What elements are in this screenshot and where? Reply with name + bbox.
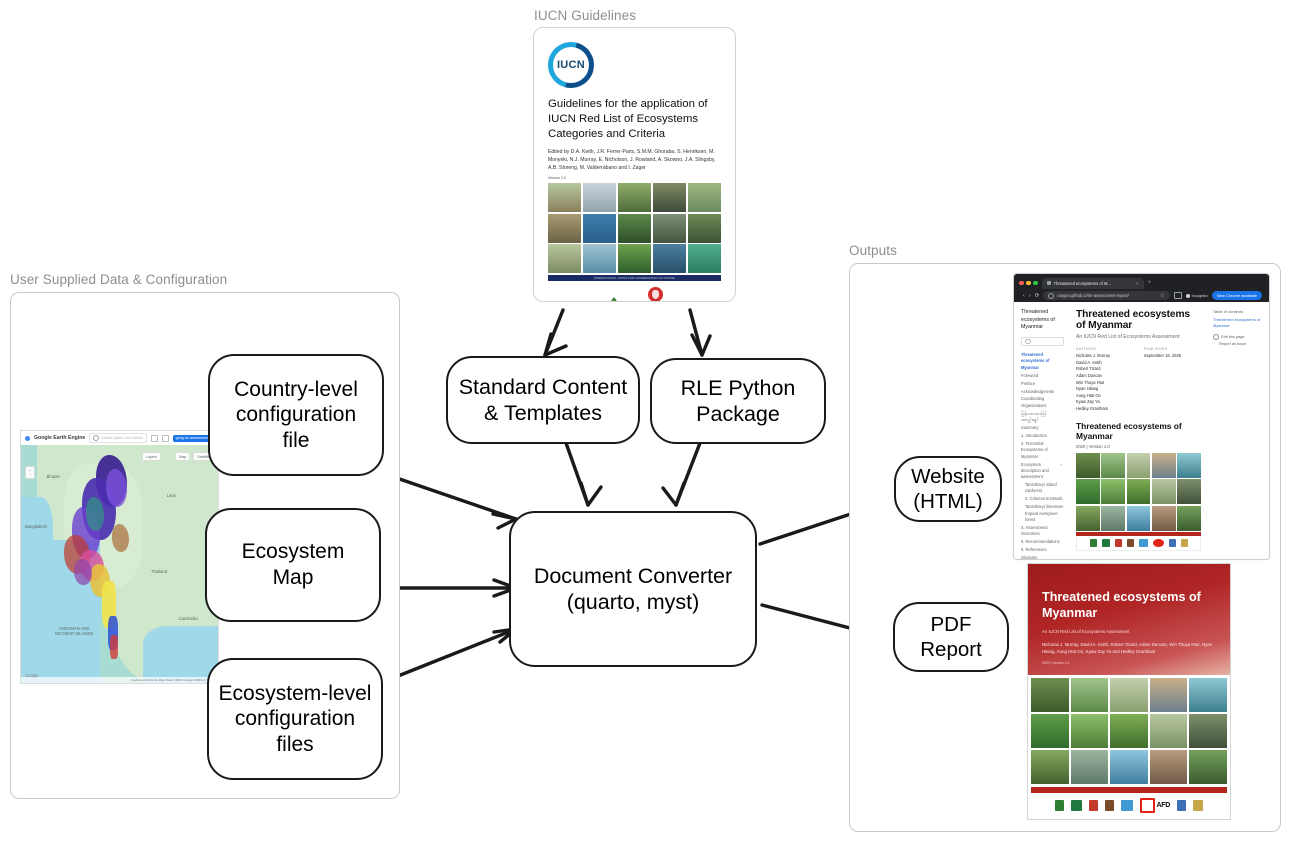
- browser-chrome: Threatened ecosystems of M... × + ‹ › ⟳ …: [1014, 274, 1269, 302]
- edit-icon: [1213, 334, 1219, 340]
- toc-item[interactable]: Glossary: [1021, 555, 1064, 560]
- toc-item[interactable]: 2. Criterion B Details: [1021, 496, 1064, 502]
- report-photo-grid: [1076, 453, 1201, 531]
- node-line: Country-level: [234, 378, 358, 401]
- node-country-level-configuration-file[interactable]: Country-level configuration file: [208, 354, 384, 476]
- author-name: Nyan Hlaing: [1076, 386, 1110, 393]
- map-label: Thailand: [151, 569, 167, 574]
- cem-logo-icon: CEM: [601, 297, 627, 302]
- right-toc-link[interactable]: Threatened ecosystems of Myanmar: [1213, 317, 1264, 329]
- page-section-title: Threatened ecosystems of Myanmar: [1076, 421, 1201, 441]
- tab-favicon-icon: [1047, 281, 1051, 285]
- node-line: PDF: [931, 613, 972, 636]
- toc-item[interactable]: 1. Introduction: [1021, 433, 1064, 439]
- gee-search-placeholder: Search places and datasets...: [101, 436, 142, 440]
- node-line: (quarto, myst): [567, 590, 700, 614]
- edit-this-page-link[interactable]: Edit this page: [1213, 334, 1264, 341]
- pdf-photo-grid: [1028, 675, 1230, 784]
- toc-item[interactable]: Coordinating Organizations: [1021, 396, 1064, 409]
- chrome-update-button[interactable]: New Chrome available: [1212, 291, 1262, 300]
- node-line: Website: [911, 465, 985, 488]
- toc-item[interactable]: Preface: [1021, 381, 1064, 387]
- map-label: ANDAMAN AND NICOBAR ISLANDS: [53, 626, 96, 636]
- toc-item[interactable]: 2. Terrestrial Ecosystems of Myanmar: [1021, 441, 1064, 460]
- url-text: ourgeo.github.io/rle-assessment-report/: [1057, 293, 1128, 298]
- google-earth-engine-thumbnail: Google Earth Engine Search places and da…: [20, 430, 219, 684]
- page-version-line: 2020 | Version 1.0: [1076, 444, 1201, 449]
- tab-title: Threatened ecosystems of M...: [1054, 281, 1112, 286]
- map-label: Bangladesh: [25, 524, 47, 529]
- map-label: Bhutan: [47, 474, 60, 479]
- close-icon[interactable]: ×: [1136, 281, 1139, 286]
- iucn-cover-photo-grid: [548, 183, 721, 273]
- map-label: Cambodia: [179, 616, 198, 621]
- node-standard-content-templates[interactable]: Standard Content & Templates: [446, 356, 640, 444]
- map-attribution: Keyboard shortcuts Map Data ©2024 Google…: [21, 677, 218, 683]
- iucn-doc-title: Guidelines for the application of IUCN R…: [548, 97, 721, 142]
- page-next-link[interactable]: Foreword →: [1076, 551, 1201, 560]
- group-label-guidelines: IUCN Guidelines: [534, 8, 636, 23]
- toc-item[interactable]: 3. Assessment Outcomes: [1021, 525, 1064, 538]
- gee-logo-icon: [25, 436, 30, 441]
- map-layers-button[interactable]: Layers: [142, 452, 161, 461]
- reload-icon[interactable]: ⟳: [1035, 293, 1040, 299]
- toc-item[interactable]: 5. Recommendations: [1021, 539, 1064, 545]
- node-line: Map: [273, 566, 314, 589]
- node-line: RLE Python: [681, 376, 796, 400]
- website-page: Threatened ecosystems of Myanmar Threate…: [1014, 302, 1269, 538]
- website-screenshot-thumbnail: Threatened ecosystems of M... × + ‹ › ⟳ …: [1013, 273, 1270, 560]
- bookmark-star-icon[interactable]: ☆: [1160, 293, 1164, 299]
- incognito-indicator: Incognito: [1186, 293, 1208, 298]
- gee-toolbar: Google Earth Engine Search places and da…: [21, 431, 218, 446]
- address-bar[interactable]: ourgeo.github.io/rle-assessment-report/ …: [1043, 291, 1169, 300]
- afd-logo-icon: AFD: [1140, 798, 1170, 813]
- node-rle-python-package[interactable]: RLE Python Package: [650, 358, 826, 444]
- gee-apps-icon[interactable]: [162, 435, 169, 442]
- search-icon: [1025, 339, 1031, 345]
- red-list-logo-icon: IUCN RED LIST OF ECOSYSTEMS: [643, 287, 669, 302]
- node-line: Report: [920, 638, 982, 661]
- window-controls[interactable]: [1019, 281, 1038, 286]
- new-tab-button[interactable]: +: [1148, 280, 1152, 286]
- node-line: configuration: [235, 707, 355, 730]
- iucn-doc-authors: Edited by D.A. Keith, J.R. Ferrer-Paris,…: [548, 149, 721, 173]
- node-line: configuration: [236, 403, 356, 426]
- toc-item[interactable]: Ecosystem description and assessment: [1021, 462, 1064, 481]
- map-label: Laos: [167, 493, 176, 498]
- search-icon: [1048, 293, 1054, 299]
- node-line: files: [276, 733, 313, 756]
- author-name: Kyaw Zay Ya: [1076, 399, 1110, 406]
- toc-item[interactable]: Threatened ecosystems of Myanmar: [1021, 352, 1064, 371]
- arrow-rle-to-converter: [676, 443, 700, 505]
- gee-help-icon[interactable]: [151, 435, 158, 442]
- google-watermark: Google: [25, 673, 39, 678]
- arrow-country-to-converter: [385, 474, 516, 519]
- node-line: & Templates: [484, 401, 602, 425]
- toc-item[interactable]: Tanintharyi island rainforest: [1021, 482, 1064, 495]
- incognito-icon: [1186, 294, 1190, 298]
- browser-nav-buttons[interactable]: ‹ › ⟳: [1021, 293, 1039, 299]
- arrow-standard-to-converter: [566, 443, 588, 505]
- author-name: Nicholas J. Murray: [1076, 353, 1110, 360]
- toc-item[interactable]: Summary: [1021, 425, 1064, 431]
- node-ecosystem-level-configuration-files[interactable]: Ecosystem-level configuration files: [207, 658, 383, 780]
- author-name: Adam Duncan: [1076, 373, 1110, 380]
- map-type-button[interactable]: Map: [175, 452, 190, 461]
- node-website-html[interactable]: Website (HTML): [894, 456, 1002, 522]
- node-line: Standard Content: [459, 375, 628, 399]
- iucn-doc-version: Version 2.0: [548, 176, 721, 180]
- pdf-report-thumbnail: Threatened ecosystems of Myanmar An IUCN…: [1027, 563, 1231, 820]
- forward-icon[interactable]: ›: [1029, 293, 1031, 299]
- sidebar-site-title: Threatened ecosystems of Myanmar: [1021, 309, 1064, 332]
- authors-block: AUTHORS Nicholas J. Murray David A. Keit…: [1076, 347, 1110, 413]
- published-date: September 18, 2025: [1144, 353, 1181, 360]
- page-title: Threatened ecosystems of Myanmar: [1076, 309, 1201, 331]
- right-table-of-contents: Table of contents Threatened ecosystems …: [1209, 302, 1269, 538]
- node-line: file: [283, 429, 310, 452]
- site-sidebar: Threatened ecosystems of Myanmar Threate…: [1014, 302, 1068, 538]
- author-name: David A. Keith: [1076, 360, 1110, 367]
- authors-heading: AUTHORS: [1076, 347, 1110, 351]
- browser-tab[interactable]: Threatened ecosystems of M... ×: [1042, 278, 1144, 289]
- pdf-authors: Nicholas J. Murray, David A. Keith, Robe…: [1042, 641, 1216, 655]
- author-name: Aung Htat Oo: [1076, 393, 1110, 400]
- gee-map-canvas[interactable]: Bhutan Bangladesh Laos Thailand Cambodia…: [21, 445, 218, 683]
- page-metadata: AUTHORS Nicholas J. Murray David A. Keit…: [1076, 347, 1201, 413]
- node-line: Ecosystem: [242, 540, 345, 563]
- pdf-subtitle: An IUCN Red List of Ecosystems Assessmen…: [1042, 629, 1216, 634]
- report-issue-link[interactable]: Report an issue: [1213, 341, 1264, 348]
- gee-brand-label: Google Earth Engine: [34, 435, 85, 441]
- pdf-partner-logos: AFD: [1028, 793, 1230, 819]
- iucn-footer-logos: CEM IUCN RED LIST OF ECOSYSTEMS: [548, 281, 721, 302]
- author-name: Robert Tizard: [1076, 366, 1110, 373]
- site-search-input[interactable]: [1021, 337, 1064, 346]
- report-partner-logos: [1076, 536, 1201, 551]
- search-icon: [93, 435, 99, 441]
- node-ecosystem-map[interactable]: Ecosystem Map: [205, 508, 381, 622]
- back-icon[interactable]: ‹: [1023, 293, 1025, 299]
- toc-item[interactable]: Foreword: [1021, 373, 1064, 379]
- arrow-ecoconfig-to-converter: [398, 629, 516, 676]
- map-zoom-controls[interactable]: +−: [25, 466, 35, 479]
- node-line: Package: [696, 402, 780, 426]
- extensions-icon[interactable]: [1174, 292, 1182, 299]
- author-name: Hedley Grantham: [1076, 406, 1110, 413]
- iucn-guidelines-thumbnail: IUCN Guidelines for the application of I…: [533, 27, 736, 302]
- arrow-guidelines-to-standard: [545, 310, 563, 355]
- published-heading: PUBLISHED: [1144, 347, 1181, 351]
- node-line: Document Converter: [534, 564, 732, 588]
- node-line: (HTML): [913, 490, 982, 513]
- published-block: PUBLISHED September 18, 2025: [1144, 347, 1181, 413]
- toc-item[interactable]: Tanintharyi limestone tropical evergreen…: [1021, 504, 1064, 523]
- node-line: Ecosystem-level: [219, 682, 372, 705]
- sidebar-toc: Threatened ecosystems of Myanmar Forewor…: [1021, 352, 1064, 560]
- toc-item[interactable]: မြန်မာဘာသာဖြင့် အကျဉ်းချုပ်: [1021, 411, 1064, 424]
- gee-search-input[interactable]: Search places and datasets...: [89, 433, 146, 443]
- pdf-title: Threatened ecosystems of Myanmar: [1042, 590, 1216, 622]
- pdf-version: 2020 | Version 1.0: [1042, 661, 1216, 665]
- pdf-cover-hero: Threatened ecosystems of Myanmar An IUCN…: [1028, 564, 1230, 675]
- group-label-outputs: Outputs: [849, 243, 897, 258]
- node-pdf-report[interactable]: PDF Report: [893, 602, 1009, 672]
- iucn-logo-icon: IUCN: [548, 42, 594, 88]
- group-label-inputs: User Supplied Data & Configuration: [10, 272, 227, 287]
- node-document-converter[interactable]: Document Converter (quarto, myst): [509, 511, 757, 667]
- site-main-content: Threatened ecosystems of Myanmar An IUCN…: [1068, 302, 1209, 538]
- toc-item[interactable]: Acknowledgments: [1021, 389, 1064, 395]
- author-name: Win Thuya Htut: [1076, 380, 1110, 387]
- right-toc-heading: Table of contents: [1213, 309, 1264, 314]
- iucn-logo-text: IUCN: [548, 59, 594, 71]
- toc-item[interactable]: 6. References: [1021, 547, 1064, 553]
- diagram-canvas: IUCN Guidelines IUCN Guidelines for the …: [0, 0, 1291, 843]
- page-subtitle: An IUCN Red List of Ecosystems Assessmen…: [1076, 334, 1201, 340]
